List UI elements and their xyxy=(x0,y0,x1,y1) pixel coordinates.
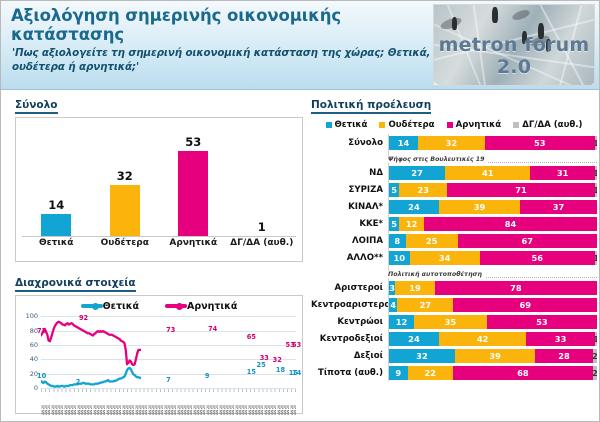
legend-label: Αρνητικά xyxy=(456,120,502,130)
bar-value-label: 1 xyxy=(228,220,297,234)
bar-axis-line xyxy=(22,236,296,237)
stacked-chart-legend: ΘετικάΟυδέτεραΑρνητικάΔΓ/ΔΑ (αυθ.) xyxy=(311,118,597,132)
bar-value-label: 53 xyxy=(159,135,228,149)
bar-segment: 27 xyxy=(389,166,445,180)
bar-segment: 39 xyxy=(455,349,535,363)
bar-segment: 84 xyxy=(424,217,597,231)
bar-segment: 35 xyxy=(414,315,487,329)
legend-label: ΔΓ/ΔΑ (αυθ.) xyxy=(522,120,582,130)
y-tick-label: 0 xyxy=(34,384,38,392)
bar-value-label: 32 xyxy=(91,169,160,183)
row-label: Κεντροαριστεροί xyxy=(311,300,388,310)
bar-category-label: Θετικά xyxy=(22,238,91,248)
bar-segment: 53 xyxy=(487,315,597,329)
bar-category-labels: ΘετικάΟυδέτεραΑρνητικάΔΓ/ΔΑ (αυθ.) xyxy=(22,238,296,256)
row-track: 3239282 xyxy=(388,349,597,363)
bar-segment: 1 xyxy=(595,136,597,150)
series-line xyxy=(41,322,141,365)
bar-segment: 69 xyxy=(453,298,597,312)
bar-series: 1432531 xyxy=(22,124,296,237)
legend-swatch xyxy=(379,122,385,128)
row-label: ΑΛΛΟ** xyxy=(311,253,388,263)
legend-item: Θετικά xyxy=(326,120,368,130)
row-track: 51284 xyxy=(388,217,597,231)
legend-item: ΔΓ/ΔΑ (αυθ.) xyxy=(513,120,582,130)
y-tick-label: 40 xyxy=(30,355,38,363)
legend-item: Αρνητικά xyxy=(165,301,237,312)
x-axis-labels: ΙΑΝ 20ΙΑΝ 20ΙΑΝ 20ΙΑΝ 20ΙΑΝ 20ΙΑΝ 20ΙΑΝ … xyxy=(41,393,296,415)
bar-segment: 32 xyxy=(418,136,485,150)
bar-segment: 1 xyxy=(595,183,597,197)
stacked-bar-rows: Σύνολο1432531Ψήφος στις Βουλευτικές 19ΝΔ… xyxy=(311,134,597,381)
bar-segment: 39 xyxy=(439,200,520,214)
legend-swatch xyxy=(447,122,453,128)
bar-segment: 42 xyxy=(439,332,526,346)
bar-segment: 1 xyxy=(595,332,597,346)
row-label: ΛΟΙΠΑ xyxy=(311,236,388,246)
bar-segment: 1 xyxy=(595,166,597,180)
bar-segment: 1 xyxy=(595,251,597,265)
y-tick-label: 80 xyxy=(30,327,38,335)
row-track: 2442331 xyxy=(388,332,597,346)
row-label: Δεξιοί xyxy=(311,351,388,361)
infographic-page: Αξιολόγηση σημερινής οικονομικής κατάστα… xyxy=(0,0,600,422)
right-column: Πολιτική προέλευση ΘετικάΟυδέτεραΑρνητικ… xyxy=(311,93,597,381)
stacked-bar-row: Κεντροδεξιοί2442331 xyxy=(311,330,597,347)
row-label: ΚΚΕ* xyxy=(311,219,388,229)
row-label: ΚΙΝΑΛ* xyxy=(311,202,388,212)
row-track: 523711 xyxy=(388,183,597,197)
stacked-bar-row: ΛΟΙΠΑ82567 xyxy=(311,232,597,249)
bar-segment: 14 xyxy=(389,136,418,150)
row-label: Κεντρώοι xyxy=(311,317,388,327)
bar-segment: 78 xyxy=(435,281,597,295)
bar-category-label: Ουδέτερα xyxy=(91,238,160,248)
political-origin-title: Πολιτική προέλευση xyxy=(311,99,431,114)
legend-label: Αρνητικά xyxy=(187,301,237,312)
row-label: Τίποτα (αυθ.) xyxy=(311,368,388,378)
bar-segment: 68 xyxy=(453,366,593,380)
bar-fill xyxy=(110,185,140,237)
stacked-bar-row: Κεντρώοι123553 xyxy=(311,313,597,330)
row-track: 1432531 xyxy=(388,136,597,150)
bar-segment: 12 xyxy=(389,315,414,329)
legend-swatch xyxy=(326,122,332,128)
stacked-bar-row: ΚΚΕ*51284 xyxy=(311,215,597,232)
bar-segment: 34 xyxy=(410,251,480,265)
bar-fill xyxy=(178,151,208,237)
stacked-bar-row: Τίποτα (αυθ.)922682 xyxy=(311,364,597,381)
legend-item: Ουδέτερα xyxy=(379,120,434,130)
y-tick-label: 20 xyxy=(30,370,38,378)
stacked-bar-row: ΑΛΛΟ**1034561 xyxy=(311,249,597,266)
bar-segment: 4 xyxy=(389,298,397,312)
bar-segment: 9 xyxy=(389,366,408,380)
bar-value-label: 14 xyxy=(22,198,91,212)
row-track: 922682 xyxy=(388,366,597,380)
bar-column: 32 xyxy=(91,124,160,237)
bar-segment: 24 xyxy=(389,332,439,346)
bar-segment: 10 xyxy=(389,251,410,265)
legend-label: Ουδέτερα xyxy=(388,120,434,130)
bar-segment: 25 xyxy=(406,234,458,248)
bar-segment: 28 xyxy=(535,349,593,363)
row-track: 2741311 xyxy=(388,166,597,180)
legend-item: Αρνητικά xyxy=(447,120,502,130)
legend-swatch xyxy=(513,122,519,128)
row-label: ΣΥΡΙΖΑ xyxy=(311,185,388,195)
stacked-bar-row: Δεξιοί3239282 xyxy=(311,347,597,364)
bar-segment: 53 xyxy=(485,136,595,150)
group-note-label: Πολιτική αυτοτοποθέτηση xyxy=(388,271,485,278)
group-note: Ψήφος στις Βουλευτικές 19 xyxy=(311,151,597,164)
bar-segment: 23 xyxy=(399,183,447,197)
legend-label: Θετικά xyxy=(335,120,368,130)
series-line xyxy=(41,368,141,387)
row-label: Σύνολο xyxy=(311,138,388,148)
timeseries-chart-area: ΘετικάΑρνητικά 020406080100 102791525181… xyxy=(15,295,303,414)
group-note: Πολιτική αυτοτοποθέτηση xyxy=(311,266,597,279)
bar-segment: 5 xyxy=(389,183,399,197)
x-axis-band xyxy=(41,389,296,392)
timeseries-legend: ΘετικάΑρνητικά xyxy=(16,299,302,313)
bar-chart-area: 1432531 ΘετικάΟυδέτεραΑρνητικάΔΓ/ΔΑ (αυθ… xyxy=(15,117,303,262)
timeseries-lines xyxy=(41,316,141,388)
bar-segment: 27 xyxy=(397,298,453,312)
bar-fill xyxy=(41,214,71,237)
stacked-bar-row: Σύνολο1432531 xyxy=(311,134,597,151)
bar-segment: 67 xyxy=(458,234,597,248)
survey-question: 'Πως αξιολογείτε τη σημερινή οικονομική … xyxy=(12,47,432,75)
timeseries-panel: Διαχρονικά στοιχεία ΘετικάΑρνητικά 02040… xyxy=(15,271,303,414)
bar-category-label: ΔΓ/ΔΑ (αυθ.) xyxy=(228,238,297,248)
row-label: ΝΔ xyxy=(311,168,388,178)
logo-figure xyxy=(492,7,498,23)
header-banner: Αξιολόγηση σημερινής οικονομικής κατάστα… xyxy=(1,1,599,90)
legend-marker xyxy=(176,303,183,310)
bar-category-label: Αρνητικά xyxy=(159,238,228,248)
row-label: Αριστεροί xyxy=(311,283,388,293)
bar-segment: 2 xyxy=(593,366,597,380)
stacked-bar-row: Αριστεροί31978 xyxy=(311,279,597,296)
bar-segment: 41 xyxy=(445,166,530,180)
legend-marker xyxy=(92,303,99,310)
legend-item: Θετικά xyxy=(81,301,139,312)
logo-text: metron forum 2.0 xyxy=(434,34,594,78)
group-note-label: Ψήφος στις Βουλευτικές 19 xyxy=(388,156,488,163)
row-label: Κεντροδεξιοί xyxy=(311,334,388,344)
row-track: 42769 xyxy=(388,298,597,312)
page-title: Αξιολόγηση σημερινής οικονομικής κατάστα… xyxy=(11,6,431,44)
bar-segment: 56 xyxy=(480,251,595,265)
logo-figure xyxy=(452,17,457,30)
bar-segment: 33 xyxy=(526,332,595,346)
y-tick-label: 60 xyxy=(30,341,38,349)
y-tick-label: 100 xyxy=(26,312,38,320)
row-track: 31978 xyxy=(388,281,597,295)
bar-segment: 19 xyxy=(395,281,435,295)
timeseries-title: Διαχρονικά στοιχεία xyxy=(15,277,136,292)
bar-column: 53 xyxy=(159,124,228,237)
row-track: 123553 xyxy=(388,315,597,329)
total-bar-chart-panel: Σύνολο 1432531 ΘετικάΟυδέτεραΑρνητικάΔΓ/… xyxy=(15,93,303,262)
y-axis-ticks: 020406080100 xyxy=(20,316,40,388)
metron-forum-logo: metron forum 2.0 xyxy=(433,4,595,86)
bar-segment: 12 xyxy=(399,217,424,231)
left-column: Σύνολο 1432531 ΘετικάΟυδέτεραΑρνητικάΔΓ/… xyxy=(15,93,303,414)
bar-segment: 2 xyxy=(593,349,597,363)
bar-segment: 8 xyxy=(389,234,406,248)
bar-segment: 71 xyxy=(447,183,595,197)
row-track: 243937 xyxy=(388,200,597,214)
stacked-bar-row: Κεντροαριστεροί42769 xyxy=(311,296,597,313)
bar-chart-title: Σύνολο xyxy=(15,99,58,114)
stacked-bar-row: ΣΥΡΙΖΑ523711 xyxy=(311,181,597,198)
bar-column: 14 xyxy=(22,124,91,237)
bar-segment: 24 xyxy=(389,200,439,214)
stacked-bar-row: ΝΔ2741311 xyxy=(311,164,597,181)
stacked-bar-row: ΚΙΝΑΛ*243937 xyxy=(311,198,597,215)
bar-column: 1 xyxy=(228,124,297,237)
legend-label: Θετικά xyxy=(103,301,139,312)
bar-segment: 5 xyxy=(389,217,399,231)
bar-segment: 32 xyxy=(389,349,455,363)
bar-segment: 22 xyxy=(408,366,453,380)
bar-segment: 37 xyxy=(520,200,597,214)
row-track: 82567 xyxy=(388,234,597,248)
timeseries-plot: 020406080100 102791525181514739273746533… xyxy=(20,316,298,411)
bar-segment: 31 xyxy=(530,166,594,180)
row-track: 1034561 xyxy=(388,251,597,265)
